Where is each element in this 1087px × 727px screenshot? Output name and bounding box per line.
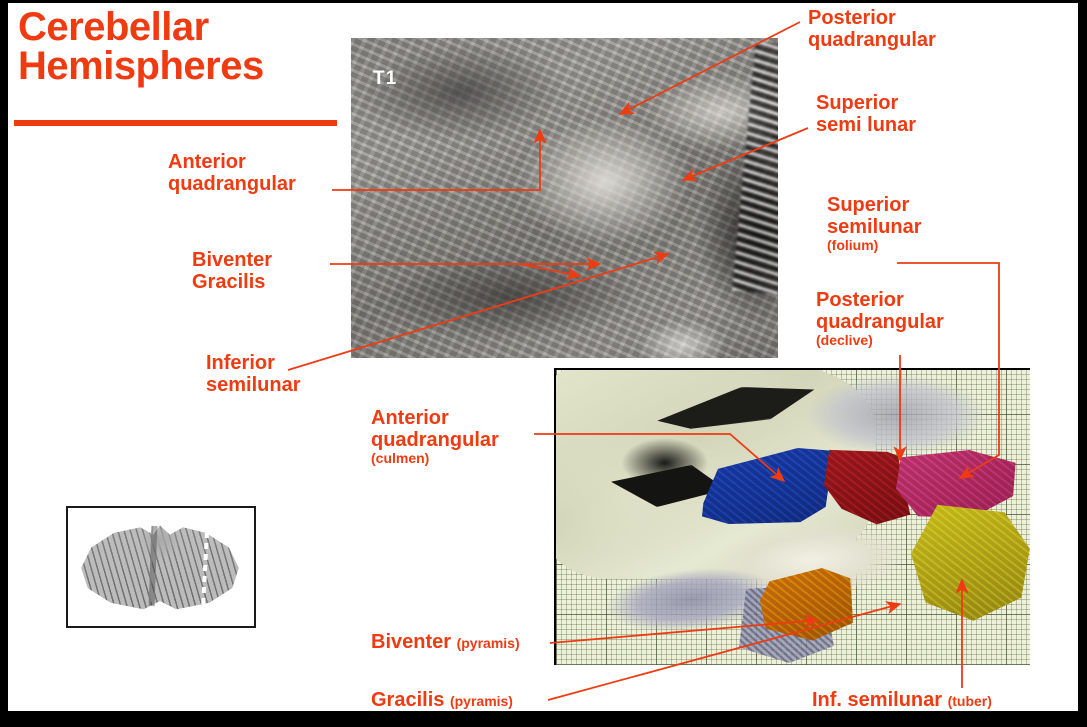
label-mri-anterior-quadrangular: Anterior quadrangular: [168, 152, 296, 195]
label-line-2: quadrangular: [816, 312, 944, 334]
slide-canvas: Cerebellar Hemispheres T1: [0, 0, 1087, 727]
label-line-2: semi lunar: [816, 115, 916, 137]
label-line-2: quadrangular: [808, 30, 936, 52]
label-main: Biventer: [371, 631, 451, 653]
label-spec-anterior-quadrangular-culmen: Anterior quadrangular (culmen): [371, 408, 499, 466]
label-main: Inf. semilunar: [812, 689, 942, 711]
label-sub: (tuber): [948, 693, 992, 709]
label-spec-posterior-quadrangular-declive: Posterior quadrangular (declive): [816, 290, 944, 348]
label-line-1: Inferior: [206, 353, 300, 375]
page-title-line1: Cerebellar: [18, 8, 348, 47]
page-title: Cerebellar Hemispheres: [18, 8, 348, 86]
mri-scan-image: [351, 38, 778, 358]
label-spec-superior-semilunar-folium: Superior semilunar (folium): [827, 195, 921, 253]
label-mri-superior-semilunar: Superior semi lunar: [816, 93, 916, 136]
mri-image-panel: T1: [351, 38, 778, 358]
label-line-1: Superior: [827, 195, 921, 217]
slide-border-top: [0, 0, 1087, 3]
label-line-1: Biventer: [192, 250, 272, 272]
specimen-image-panel: [554, 368, 1030, 665]
slide-border-right: [1078, 0, 1087, 727]
label-line-2: semilunar: [206, 375, 300, 397]
title-underline-rule: [14, 120, 337, 126]
label-line-2: Gracilis: [192, 272, 272, 294]
label-mri-biventer-gracilis: Biventer Gracilis: [192, 250, 272, 293]
label-spec-gracilis-pyramis: Gracilis (pyramis): [371, 690, 513, 712]
label-main: Gracilis: [371, 689, 444, 711]
cerebellum-thumbnail: [66, 506, 256, 628]
label-sub: (culmen): [371, 451, 499, 466]
label-line-1: Superior: [816, 93, 916, 115]
label-spec-inf-semilunar-tuber: Inf. semilunar (tuber): [812, 690, 992, 712]
label-line-2: quadrangular: [168, 174, 296, 196]
mri-modality-tag: T1: [373, 68, 397, 90]
label-line-1: Anterior: [371, 408, 499, 430]
label-line-2: semilunar: [827, 217, 921, 239]
label-line-2: quadrangular: [371, 430, 499, 452]
cerebellum-posterior-view: [78, 520, 242, 612]
label-sub: (folium): [827, 238, 921, 253]
slide-border-left: [0, 0, 8, 727]
slide-border-bottom: [0, 711, 1087, 727]
page-title-line2: Hemispheres: [18, 47, 348, 86]
label-sub: (pyramis): [457, 635, 520, 651]
label-line-1: Posterior: [816, 290, 944, 312]
occipital-tissue: [796, 370, 996, 460]
label-mri-inferior-semilunar: Inferior semilunar: [206, 353, 300, 396]
label-line-1: Anterior: [168, 152, 296, 174]
label-sub: (pyramis): [450, 693, 513, 709]
label-sub: (declive): [816, 333, 944, 348]
label-line-1: Posterior: [808, 8, 936, 30]
label-spec-biventer-pyramis: Biventer (pyramis): [371, 632, 520, 654]
mri-bright-band: [732, 41, 778, 294]
label-mri-posterior-quadrangular: Posterior quadrangular: [808, 8, 936, 51]
